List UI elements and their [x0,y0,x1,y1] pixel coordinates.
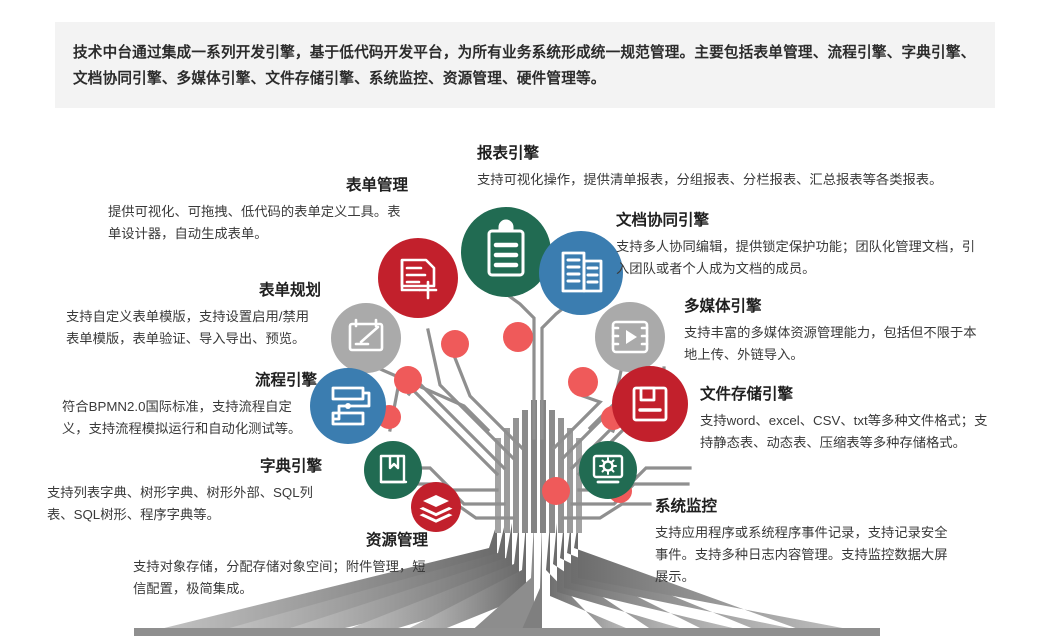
node-circle-dictionary[interactable] [364,441,422,499]
callout-form-plan: 表单规划 支持自定义表单模版，支持设置启用/禁用表单模版，表单验证、导入导出、预… [66,281,321,350]
intro-text: 技术中台通过集成一系列开发引擎，基于低代码开发平台，为所有业务系统形成统一规范管… [73,40,977,92]
callout-title-form-mgmt: 表单管理 [108,176,408,196]
intro-banner: 技术中台通过集成一系列开发引擎，基于低代码开发平台，为所有业务系统形成统一规范管… [55,22,995,108]
callout-body-form-mgmt: 提供可视化、可拖拽、低代码的表单定义工具。表单设计器，自动生成表单。 [108,201,408,245]
callout-body-file-engine: 支持word、excel、CSV、txt等多种文件格式；支持静态表、动态表、压缩… [700,410,990,454]
callout-title-form-plan: 表单规划 [66,281,321,301]
callout-report-engine: 报表引擎 支持可视化操作，提供清单报表，分组报表、分栏报表、汇总报表等各类报表。 [477,144,997,191]
node-circle-form-new[interactable] [378,238,458,318]
node-resource-store[interactable] [411,482,461,532]
node-circle-documents[interactable] [539,231,623,315]
node-circle-file-save[interactable] [612,366,688,442]
node-documents[interactable] [539,231,623,315]
callout-flow-engine: 流程引擎 符合BPMN2.0国际标准，支持流程自定义，支持流程模拟运行和自动化测… [62,371,317,440]
callout-title-dict-engine: 字典引擎 [47,457,322,477]
callout-title-flow-engine: 流程引擎 [62,371,317,391]
callout-doc-engine: 文档协同引擎 支持多人协同编辑，提供锁定保护功能；团队化管理文档，引入团队或者个… [616,211,986,280]
tree-trunk [495,400,582,533]
callout-dict-engine: 字典引擎 支持列表字典、树形字典、树形外部、SQL列表、SQL树形、程序字典等。 [47,457,322,526]
node-form-new[interactable] [378,238,458,318]
callout-title-file-engine: 文件存储引擎 [700,385,990,405]
callout-body-sys-monitor: 支持应用程序或系统程序事件记录，支持记录安全事件。支持多种日志内容管理。支持监控… [655,522,955,588]
callout-body-form-plan: 支持自定义表单模版，支持设置启用/禁用表单模版，表单验证、导入导出、预览。 [66,306,321,350]
node-form-design[interactable] [331,303,401,373]
callout-body-resource-mgmt: 支持对象存储，分配存储对象空间；附件管理，短信配置，极简集成。 [133,556,428,600]
callout-title-report-engine: 报表引擎 [477,144,997,164]
node-dictionary[interactable] [364,441,422,499]
callout-title-media-engine: 多媒体引擎 [684,297,989,317]
callout-body-flow-engine: 符合BPMN2.0国际标准，支持流程自定义，支持流程模拟运行和自动化测试等。 [62,396,317,440]
callout-title-resource-mgmt: 资源管理 [133,531,428,551]
callout-form-mgmt: 表单管理 提供可视化、可拖拽、低代码的表单定义工具。表单设计器，自动生成表单。 [108,176,408,245]
callout-body-dict-engine: 支持列表字典、树形字典、树形外部、SQL列表、SQL树形、程序字典等。 [47,482,322,526]
node-clipboard[interactable] [461,207,551,297]
callout-title-sys-monitor: 系统监控 [655,497,955,517]
callout-title-doc-engine: 文档协同引擎 [616,211,986,231]
node-sys-monitor[interactable] [579,441,637,499]
node-media-player[interactable] [595,302,665,372]
callout-body-report-engine: 支持可视化操作，提供清单报表，分组报表、分栏报表、汇总报表等各类报表。 [477,169,997,191]
tech-tree-diagram: 表单管理 提供可视化、可拖拽、低代码的表单定义工具。表单设计器，自动生成表单。 … [0,118,1051,636]
node-file-save[interactable] [612,366,688,442]
node-flow-diagram[interactable] [310,368,386,444]
callout-file-engine: 文件存储引擎 支持word、excel、CSV、txt等多种文件格式；支持静态表… [700,385,990,454]
callout-body-media-engine: 支持丰富的多媒体资源管理能力，包括但不限于本地上传、外链导入。 [684,322,989,366]
callout-sys-monitor: 系统监控 支持应用程序或系统程序事件记录，支持记录安全事件。支持多种日志内容管理… [655,497,955,588]
callout-body-doc-engine: 支持多人协同编辑，提供锁定保护功能；团队化管理文档，引入团队或者个人成为文档的成… [616,236,986,280]
callout-resource-mgmt: 资源管理 支持对象存储，分配存储对象空间；附件管理，短信配置，极简集成。 [133,531,428,600]
callout-media-engine: 多媒体引擎 支持丰富的多媒体资源管理能力，包括但不限于本地上传、外链导入。 [684,297,989,366]
